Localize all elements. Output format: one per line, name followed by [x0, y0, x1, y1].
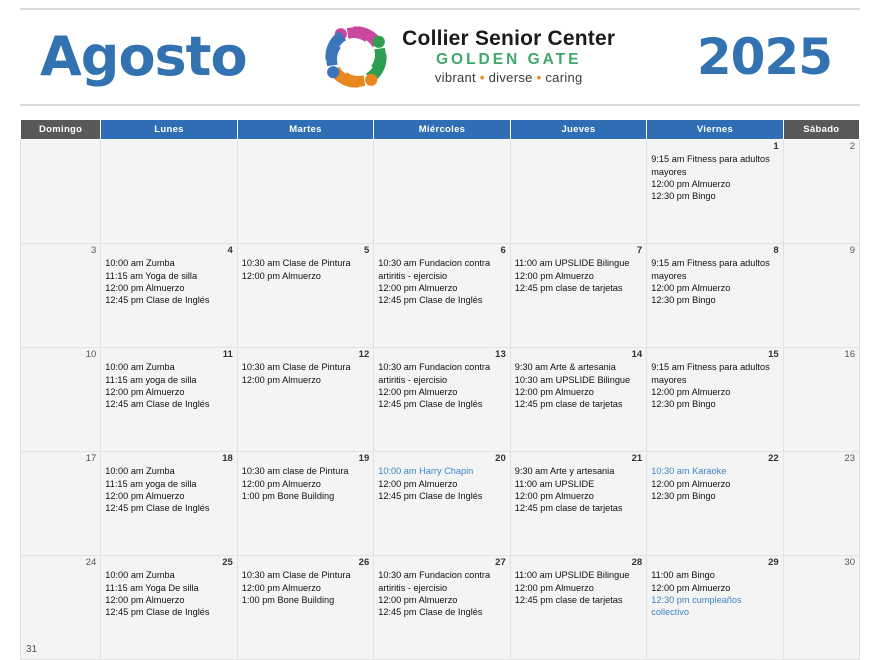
calendar-day-cell[interactable]: 610:30 am Fundacion contra artiritis - e… [374, 244, 510, 348]
event-item[interactable]: 12:00 pm Almuerzo [242, 270, 369, 282]
day-number: 21 [515, 454, 642, 464]
day-number: 8 [651, 246, 778, 256]
calendar-page: Agosto [0, 0, 880, 660]
calendar-day-cell[interactable]: 2 [783, 140, 859, 244]
day-number: 9 [788, 246, 855, 256]
tagline-bullet-icon: • [480, 70, 485, 85]
event-item[interactable]: 11:15 am Yoga De silla [105, 582, 232, 594]
event-item[interactable]: 12:00 pm Almuerzo [515, 490, 642, 502]
calendar-empty-cell[interactable] [101, 140, 237, 244]
day-number: 18 [105, 454, 232, 464]
event-item[interactable]: 11:00 am UPSLIDE Bilingue [515, 257, 642, 269]
monthly-calendar-table: DomingoLunesMartesMiércolesJuevesViernes… [20, 119, 860, 660]
calendar-day-cell[interactable]: 2510:00 am Zumba11:15 am Yoga De silla12… [101, 556, 237, 660]
event-item[interactable]: 10:30 am Karaoke [651, 465, 778, 477]
weekday-header-sbado: Sábado [783, 120, 859, 140]
logo-org-subtitle: GOLDEN GATE [402, 50, 615, 69]
event-item[interactable]: 12:00 pm Almuerzo [651, 386, 778, 398]
event-item[interactable]: 12:45 pm clase de tarjetas [515, 398, 642, 410]
day-event-list: 10:30 am Clase de Pintura12:00 pm Almuer… [242, 569, 369, 606]
weekday-header-mircoles: Miércoles [374, 120, 510, 140]
event-item[interactable]: 10:00 am Zumba [105, 465, 232, 477]
event-item[interactable]: 9:30 am Arte & artesania [515, 361, 642, 373]
calendar-day-cell[interactable]: 711:00 am UPSLIDE Bilingue12:00 pm Almue… [510, 244, 646, 348]
event-item[interactable]: 10:30 am UPSLIDE Bilingue [515, 374, 642, 386]
calendar-day-cell[interactable]: 10 [21, 348, 101, 452]
event-item[interactable]: 12:00 pm Almuerzo [515, 386, 642, 398]
calendar-day-cell[interactable]: 219:30 am Arte y artesania11:00 am UPSLI… [510, 452, 646, 556]
event-item[interactable]: 10:00 am Zumba [105, 361, 232, 373]
event-item[interactable]: 12:45 pm clase de tarjetas [515, 282, 642, 294]
day-number: 20 [378, 454, 505, 464]
calendar-day-cell[interactable]: 9 [783, 244, 859, 348]
day-event-list: 10:30 am Fundacion contra artiritis - ej… [378, 257, 505, 306]
tagline-word-caring: caring [545, 70, 582, 85]
day-number: 6 [378, 246, 505, 256]
event-item[interactable]: 12:45 pm Clase de Inglés [105, 294, 232, 306]
day-event-list: 10:30 am Clase de Pintura12:00 pm Almuer… [242, 257, 369, 281]
calendar-day-cell[interactable]: 3 [21, 244, 101, 348]
day-number: 14 [515, 350, 642, 360]
day-number: 3 [25, 246, 96, 256]
calendar-day-cell[interactable]: 1210:30 am Clase de Pintura12:00 pm Almu… [237, 348, 373, 452]
calendar-day-cell[interactable]: 16 [783, 348, 859, 452]
event-item[interactable]: 11:15 am yoga de silla [105, 478, 232, 490]
event-item[interactable]: 11:00 am UPSLIDE Bilingue [515, 569, 642, 581]
calendar-week-row: 3410:00 am Zumba11:15 am Yoga de silla12… [21, 244, 860, 348]
event-item[interactable]: 10:00 am Zumba [105, 257, 232, 269]
event-item[interactable]: 9:15 am Fitness para adultos mayores [651, 257, 778, 281]
event-item[interactable]: 10:00 am Harry Chapin [378, 465, 505, 477]
day-number: 2 [788, 142, 855, 152]
calendar-day-cell[interactable]: 1810:00 am Zumba11:15 am yoga de silla12… [101, 452, 237, 556]
calendar-empty-cell[interactable] [237, 140, 373, 244]
event-item[interactable]: 10:30 am Fundacion contra artiritis - ej… [378, 257, 505, 281]
tagline-word-diverse: diverse [489, 70, 533, 85]
trailing-day-number: 31 [26, 644, 37, 655]
event-item[interactable]: 11:00 am Bingo [651, 569, 778, 581]
day-number: 29 [651, 558, 778, 568]
calendar-day-cell[interactable]: 2010:00 am Harry Chapin12:00 pm Almuerzo… [374, 452, 510, 556]
day-event-list: 10:00 am Zumba11:15 am yoga de silla12:0… [105, 361, 232, 410]
day-number: 15 [651, 350, 778, 360]
calendar-day-cell[interactable]: 2710:30 am Fundacion contra artiritis - … [374, 556, 510, 660]
calendar-day-cell[interactable]: 2431 [21, 556, 101, 660]
event-item[interactable]: 12:45 pm Clase de Inglés [105, 502, 232, 514]
calendar-day-cell[interactable]: 159:15 am Fitness para adultos mayores12… [647, 348, 783, 452]
page-title-year: 2025 [697, 32, 860, 82]
event-item[interactable]: 10:30 am Clase de Pintura [242, 257, 369, 269]
day-event-list: 9:15 am Fitness para adultos mayores12:0… [651, 257, 778, 306]
calendar-day-cell[interactable]: 2610:30 am Clase de Pintura12:00 pm Almu… [237, 556, 373, 660]
day-number: 27 [378, 558, 505, 568]
day-event-list: 10:30 am clase de Pintura12:00 pm Almuer… [242, 465, 369, 502]
calendar-empty-cell[interactable] [21, 140, 101, 244]
event-item[interactable]: 12:45 pm clase de tarjetas [515, 502, 642, 514]
calendar-week-row: 19:15 am Fitness para adultos mayores12:… [21, 140, 860, 244]
day-event-list: 11:00 am Bingo12:00 pm Almuerzo12:30 pm … [651, 569, 778, 618]
calendar-day-cell[interactable]: 30 [783, 556, 859, 660]
day-number: 1 [651, 142, 778, 152]
day-number: 25 [105, 558, 232, 568]
day-event-list: 10:00 am Zumba11:15 am Yoga De silla12:0… [105, 569, 232, 618]
day-number: 23 [788, 454, 855, 464]
event-item[interactable]: 12:00 pm Almuerzo [378, 386, 505, 398]
tagline-bullet-icon: • [537, 70, 542, 85]
tagline-word-vibrant: vibrant [435, 70, 476, 85]
event-item[interactable]: 12:00 pm Almuerzo [378, 594, 505, 606]
day-number: 26 [242, 558, 369, 568]
calendar-day-cell[interactable]: 149:30 am Arte & artesania10:30 am UPSLI… [510, 348, 646, 452]
day-event-list: 10:30 am Fundacion contra artiritis - ej… [378, 569, 505, 618]
event-item[interactable]: 12:00 pm Almuerzo [378, 282, 505, 294]
logo-org-name: Collier Senior Center [402, 28, 615, 50]
event-item[interactable]: 11:15 am Yoga de silla [105, 270, 232, 282]
event-item[interactable]: 10:00 am Zumba [105, 569, 232, 581]
logo-tagline: vibrant • diverse • caring [402, 70, 615, 86]
day-number: 5 [242, 246, 369, 256]
event-item[interactable]: 12:30 pm Bingo [651, 398, 778, 410]
day-event-list: 10:30 am Fundacion contra artiritis - ej… [378, 361, 505, 410]
event-item[interactable]: 10:30 am Fundacion contra artiritis - ej… [378, 569, 505, 593]
day-number: 17 [25, 454, 96, 464]
calendar-header-banner: Agosto [20, 8, 860, 106]
event-item[interactable]: 12:45 pm Clase de Inglés [378, 490, 505, 502]
event-item[interactable]: 1:00 pm Bone Building [242, 594, 369, 606]
day-number: 12 [242, 350, 369, 360]
day-event-list: 10:00 am Zumba11:15 am yoga de silla12:0… [105, 465, 232, 514]
calendar-day-cell[interactable]: 17 [21, 452, 101, 556]
day-number: 16 [788, 350, 855, 360]
day-event-list: 10:30 am Clase de Pintura12:00 pm Almuer… [242, 361, 369, 385]
event-item[interactable]: 12:30 pm cumpleaños collectivo [651, 594, 778, 618]
event-item[interactable]: 12:00 pm Almuerzo [651, 282, 778, 294]
event-item[interactable]: 12:00 pm Almuerzo [378, 478, 505, 490]
weekday-header-jueves: Jueves [510, 120, 646, 140]
calendar-empty-cell[interactable] [510, 140, 646, 244]
day-number: 28 [515, 558, 642, 568]
page-title-month: Agosto [20, 30, 247, 84]
day-event-list: 9:15 am Fitness para adultos mayores12:0… [651, 361, 778, 410]
event-item[interactable]: 11:00 am UPSLIDE [515, 478, 642, 490]
day-event-list: 10:30 am Karaoke12:00 pm Almuerzo12:30 p… [651, 465, 778, 502]
event-item[interactable]: 10:30 am Clase de Pintura [242, 569, 369, 581]
event-item[interactable]: 12:00 pm Almuerzo [515, 582, 642, 594]
day-number: 19 [242, 454, 369, 464]
event-item[interactable]: 12:45 pm Clase de Inglés [378, 606, 505, 618]
calendar-day-cell[interactable]: 410:00 am Zumba11:15 am Yoga de silla12:… [101, 244, 237, 348]
event-item[interactable]: 1:00 pm Bone Building [242, 490, 369, 502]
event-item[interactable]: 12:45 pm Clase de Inglés [105, 606, 232, 618]
event-item[interactable]: 12:00 pm Almuerzo [105, 490, 232, 502]
calendar-day-cell[interactable]: 23 [783, 452, 859, 556]
event-item[interactable]: 9:15 am Fitness para adultos mayores [651, 153, 778, 177]
day-event-list: 9:30 am Arte & artesania10:30 am UPSLIDE… [515, 361, 642, 410]
day-number: 24 [25, 558, 96, 568]
event-item[interactable]: 12:00 pm Almuerzo [105, 282, 232, 294]
day-event-list: 9:15 am Fitness para adultos mayores12:0… [651, 153, 778, 202]
calendar-day-cell[interactable]: 2210:30 am Karaoke12:00 pm Almuerzo12:30… [647, 452, 783, 556]
event-item[interactable]: 12:45 pm Clase de Inglés [378, 398, 505, 410]
calendar-day-cell[interactable]: 1110:00 am Zumba11:15 am yoga de silla12… [101, 348, 237, 452]
calendar-empty-cell[interactable] [374, 140, 510, 244]
event-item[interactable]: 12:00 pm Almuerzo [515, 270, 642, 282]
day-event-list: 11:00 am UPSLIDE Bilingue12:00 pm Almuer… [515, 569, 642, 606]
day-event-list: 10:00 am Harry Chapin12:00 pm Almuerzo12… [378, 465, 505, 502]
day-number: 30 [788, 558, 855, 568]
day-number: 7 [515, 246, 642, 256]
organization-logo: Collier Senior Center GOLDEN GATE vibran… [318, 19, 615, 95]
day-number: 10 [25, 350, 96, 360]
calendar-day-cell[interactable]: 1910:30 am clase de Pintura12:00 pm Almu… [237, 452, 373, 556]
day-number: 22 [651, 454, 778, 464]
day-number: 11 [105, 350, 232, 360]
logo-text-block: Collier Senior Center GOLDEN GATE vibran… [402, 28, 615, 86]
event-item[interactable]: 9:30 am Arte y artesania [515, 465, 642, 477]
event-item[interactable]: 9:15 am Fitness para adultos mayores [651, 361, 778, 385]
calendar-day-cell[interactable]: 2811:00 am UPSLIDE Bilingue12:00 pm Almu… [510, 556, 646, 660]
event-item[interactable]: 12:00 pm Almuerzo [242, 478, 369, 490]
event-item[interactable]: 12:00 pm Almuerzo [651, 582, 778, 594]
event-item[interactable]: 12:30 pm Bingo [651, 490, 778, 502]
event-item[interactable]: 12:45 am Clase de Inglés [105, 398, 232, 410]
calendar-day-cell[interactable]: 510:30 am Clase de Pintura12:00 pm Almue… [237, 244, 373, 348]
event-item[interactable]: 12:00 pm Almuerzo [242, 374, 369, 386]
calendar-week-row: 171810:00 am Zumba11:15 am yoga de silla… [21, 452, 860, 556]
event-item[interactable]: 12:45 pm clase de tarjetas [515, 594, 642, 606]
event-item[interactable]: 12:00 pm Almuerzo [242, 582, 369, 594]
day-event-list: 10:00 am Zumba11:15 am Yoga de silla12:0… [105, 257, 232, 306]
event-item[interactable]: 12:00 pm Almuerzo [651, 178, 778, 190]
calendar-day-cell[interactable]: 89:15 am Fitness para adultos mayores12:… [647, 244, 783, 348]
event-item[interactable]: 10:30 am Clase de Pintura [242, 361, 369, 373]
day-number: 13 [378, 350, 505, 360]
event-item[interactable]: 12:30 pm Bingo [651, 190, 778, 202]
collier-senior-center-logo-icon [318, 19, 394, 95]
weekday-header-domingo: Domingo [21, 120, 101, 140]
day-event-list: 11:00 am UPSLIDE Bilingue12:00 pm Almuer… [515, 257, 642, 294]
event-item[interactable]: 11:15 am yoga de silla [105, 374, 232, 386]
weekday-header-martes: Martes [237, 120, 373, 140]
event-item[interactable]: 12:45 pm Clase de Inglés [378, 294, 505, 306]
calendar-week-row: 24312510:00 am Zumba11:15 am Yoga De sil… [21, 556, 860, 660]
calendar-weekday-header-row: DomingoLunesMartesMiércolesJuevesViernes… [21, 120, 860, 140]
event-item[interactable]: 10:30 am Fundacion contra artiritis - ej… [378, 361, 505, 385]
calendar-day-cell[interactable]: 1310:30 am Fundacion contra artiritis - … [374, 348, 510, 452]
event-item[interactable]: 12:00 pm Almuerzo [651, 478, 778, 490]
event-item[interactable]: 12:00 pm Almuerzo [105, 594, 232, 606]
weekday-header-viernes: Viernes [647, 120, 783, 140]
calendar-day-cell[interactable]: 19:15 am Fitness para adultos mayores12:… [647, 140, 783, 244]
day-event-list: 9:30 am Arte y artesania11:00 am UPSLIDE… [515, 465, 642, 514]
calendar-day-cell[interactable]: 2911:00 am Bingo12:00 pm Almuerzo12:30 p… [647, 556, 783, 660]
event-item[interactable]: 10:30 am clase de Pintura [242, 465, 369, 477]
event-item[interactable]: 12:30 pm Bingo [651, 294, 778, 306]
event-item[interactable]: 12:00 pm Almuerzo [105, 386, 232, 398]
calendar-week-row: 101110:00 am Zumba11:15 am yoga de silla… [21, 348, 860, 452]
weekday-header-lunes: Lunes [101, 120, 237, 140]
day-number: 4 [105, 246, 232, 256]
